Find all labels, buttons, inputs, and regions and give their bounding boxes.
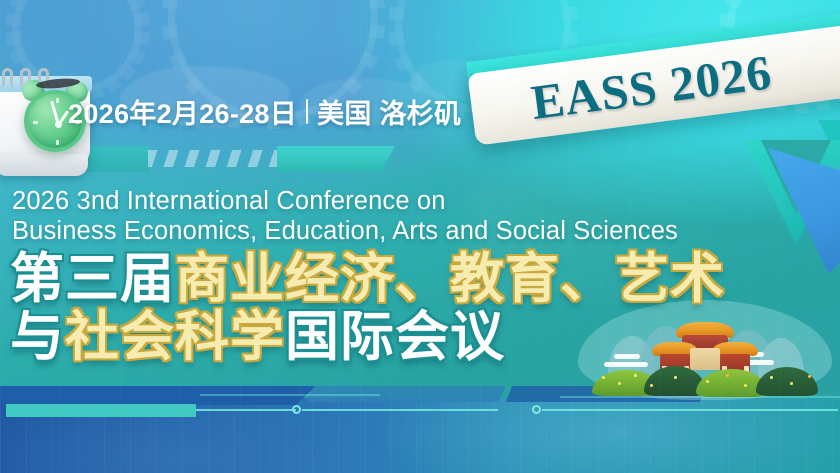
chinese-title-prefix: 第三届 [10,249,175,309]
conference-location: 美国 洛杉矶 [317,92,461,131]
date-separator-icon [306,99,308,124]
chinese-title-line-2: 与社会科学国际会议 [10,308,725,366]
english-title: 2026 3nd International Conference on Bus… [12,186,678,246]
tech-line [196,409,296,411]
chinese-title-highlight-2: 社会科学 [65,307,285,367]
tech-node [532,405,541,414]
chinese-title-conjunction: 与 [10,307,65,367]
chinese-title-suffix: 国际会议 [285,307,505,367]
diagonal-stripes [148,150,278,167]
conference-banner: EASS 2026 [0,0,840,473]
chinese-title: 第三届商业经济、教育、艺术 与社会科学国际会议 [10,250,725,366]
calendar-page-icon [0,154,88,176]
tech-line [542,409,838,411]
date-location-row: 2026年2月26-28日 美国 洛杉矶 [68,92,461,131]
teal-tab [277,146,395,172]
chinese-title-line-1: 第三届商业经济、教育、艺术 [10,250,725,308]
tech-bar [6,404,196,417]
conference-date: 2026年2月26-28日 [68,92,297,131]
english-title-line-1: 2026 3nd International Conference on [12,186,678,216]
english-title-line-2: Business Economics, Education, Arts and … [12,216,678,246]
tech-node [292,405,301,414]
tech-line [302,409,498,411]
tech-line [200,394,380,396]
chinese-title-highlight-1: 商业经济、教育、艺术 [175,249,725,309]
spiral-ring-icon [2,68,13,88]
